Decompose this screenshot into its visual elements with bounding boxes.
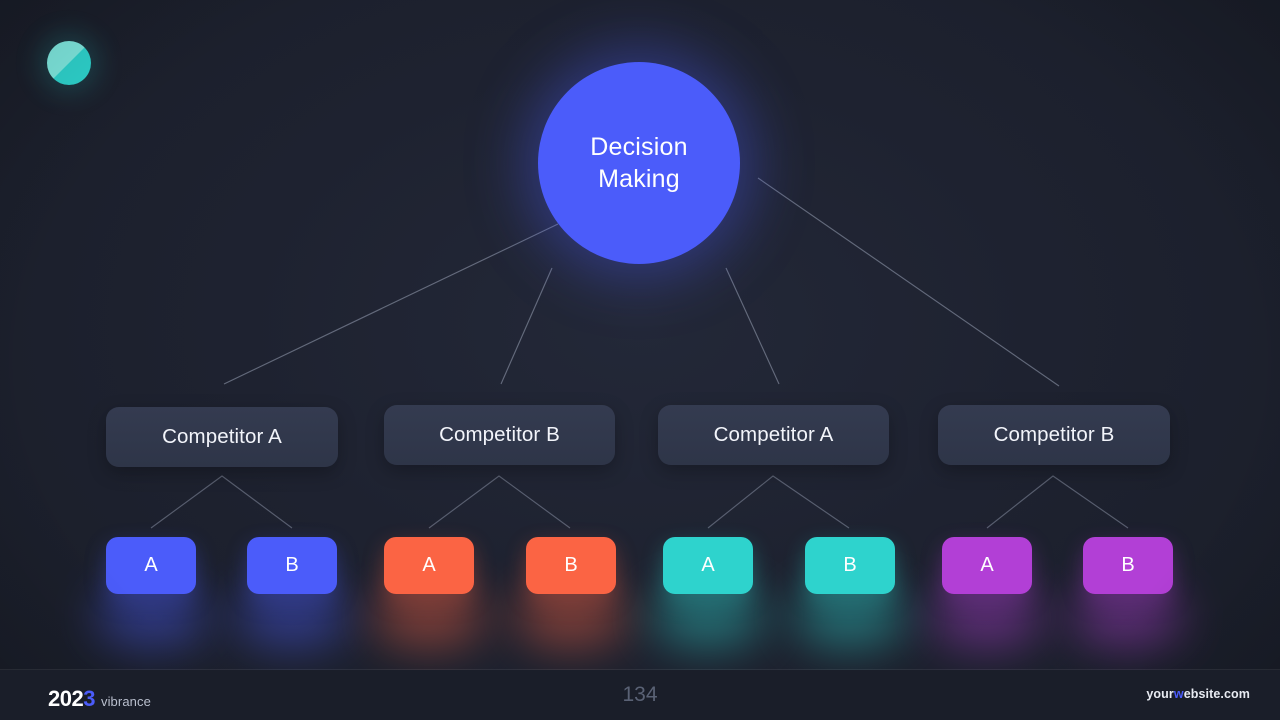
branch-node-3[interactable]: Competitor B — [938, 405, 1170, 465]
branch-node-0[interactable]: Competitor A — [106, 407, 338, 467]
branch-node-1[interactable]: Competitor B — [384, 405, 615, 465]
root-node-label: Decision Making — [590, 131, 687, 195]
branch-node-label: Competitor A — [714, 423, 834, 447]
leaf-node-label: A — [980, 554, 993, 577]
leaf-node-label: A — [144, 554, 157, 577]
footer-site-url-suffix: ebsite.com — [1184, 687, 1250, 701]
root-node-label-line1: Decision — [590, 133, 687, 161]
root-node-decision-making[interactable]: Decision Making — [538, 62, 740, 264]
slide-canvas: Decision Making Competitor A Competitor … — [0, 0, 1280, 720]
footer-site-url[interactable]: yourwebsite.com — [1146, 687, 1250, 701]
leaf-node-7[interactable]: B — [1083, 537, 1173, 594]
leaf-node-label: A — [422, 554, 435, 577]
footer-site-url-prefix: your — [1146, 687, 1174, 701]
branch-node-label: Competitor B — [994, 423, 1115, 447]
footer-site-url-highlight: w — [1174, 687, 1184, 701]
leaf-node-label: B — [564, 554, 577, 577]
branch-node-label: Competitor B — [439, 423, 560, 447]
leaf-node-5[interactable]: B — [805, 537, 895, 594]
leaf-node-label: B — [1121, 554, 1134, 577]
leaf-node-label: A — [701, 554, 714, 577]
leaf-node-4[interactable]: A — [663, 537, 753, 594]
branch-node-label: Competitor A — [162, 425, 282, 449]
footer-divider — [0, 669, 1280, 670]
leaf-node-0[interactable]: A — [106, 537, 196, 594]
page-number: 134 — [0, 683, 1280, 707]
leaf-node-3[interactable]: B — [526, 537, 616, 594]
root-node-label-line2: Making — [598, 165, 680, 193]
leaf-node-1[interactable]: B — [247, 537, 337, 594]
leaf-node-6[interactable]: A — [942, 537, 1032, 594]
leaf-node-label: B — [285, 554, 298, 577]
leaf-node-label: B — [843, 554, 856, 577]
leaf-node-2[interactable]: A — [384, 537, 474, 594]
branch-node-2[interactable]: Competitor A — [658, 405, 889, 465]
